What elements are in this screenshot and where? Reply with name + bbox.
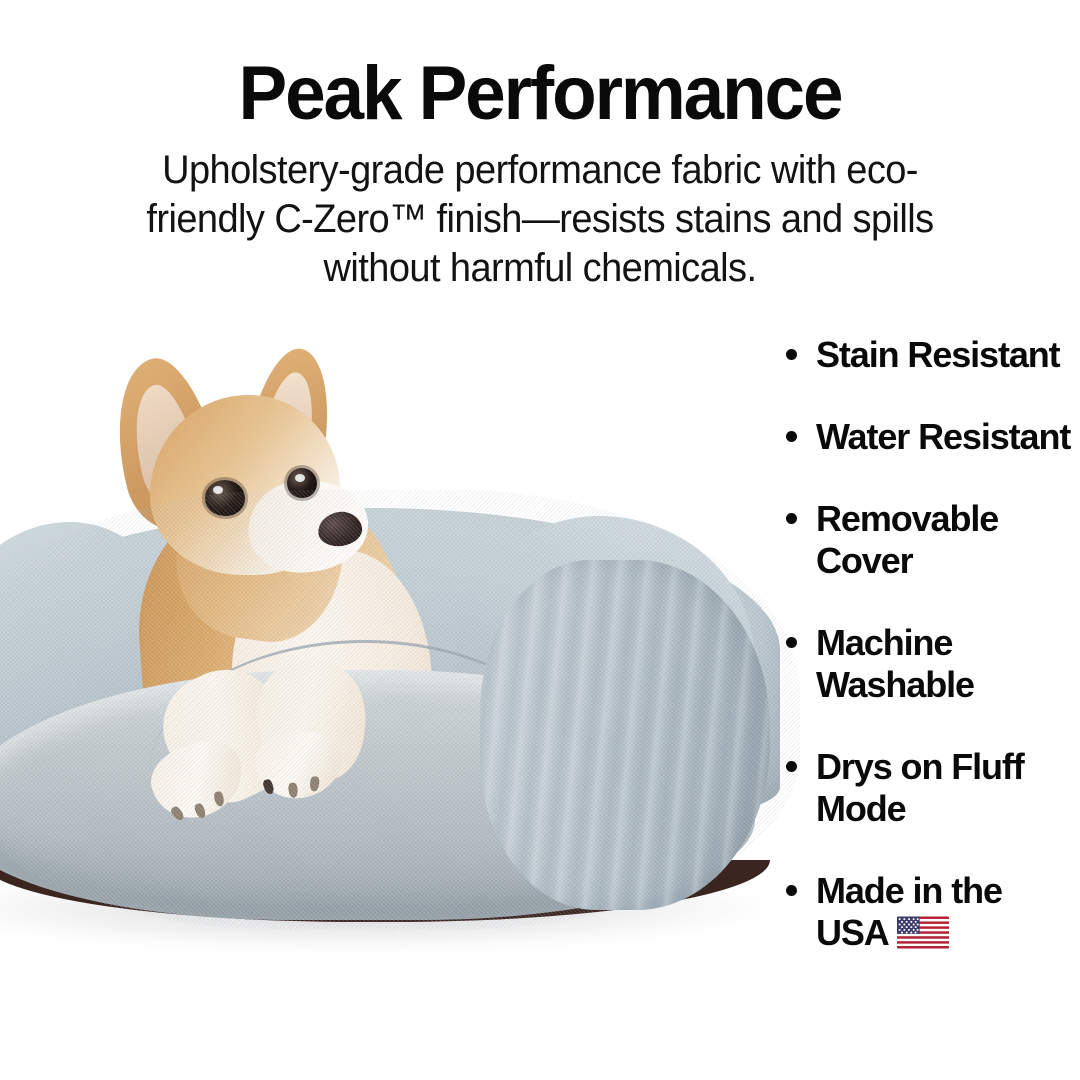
dog-claw <box>213 791 225 808</box>
bullet-dot-icon <box>786 885 797 896</box>
bullet-dot-icon <box>786 349 797 360</box>
feature-label: Removable Cover <box>816 498 998 581</box>
feature-item-water-resistant: Water Resistant <box>778 416 1080 458</box>
product-photo <box>0 340 790 960</box>
page-title: Peak Performance <box>22 52 1059 136</box>
dog-eye-left-glint <box>213 486 223 494</box>
feature-label: Water Resistant <box>816 416 1070 457</box>
bullet-dot-icon <box>786 513 797 524</box>
feature-label: Machine Washable <box>816 622 974 705</box>
bullet-dot-icon <box>786 431 797 442</box>
feature-list: Stain Resistant Water Resistant Removabl… <box>778 334 1080 954</box>
dog-claw <box>309 776 320 792</box>
feature-label-line2: USA <box>816 912 889 953</box>
subheadline-text: Upholstery-grade performance fabric with… <box>111 146 970 293</box>
dog-claw <box>288 782 299 798</box>
feature-item-stain-resistant: Stain Resistant <box>778 334 1080 376</box>
marketing-image-canvas: Peak Performance Upholstery-grade perfor… <box>0 0 1080 1080</box>
feature-label: Stain Resistant <box>816 334 1060 375</box>
us-flag-icon <box>897 916 949 949</box>
feature-item-removable-cover: Removable Cover <box>778 498 1080 582</box>
feature-item-drys-on-fluff-mode: Drys on Fluff Mode <box>778 746 1080 830</box>
dog-eye-right <box>287 468 317 498</box>
feature-item-made-in-usa: Made in the USA <box>778 870 1080 954</box>
feature-label: Made in the <box>816 870 1002 911</box>
feature-label: Drys on Fluff Mode <box>816 746 1024 829</box>
feature-item-machine-washable: Machine Washable <box>778 622 1080 706</box>
bed-right-bolster <box>480 560 770 910</box>
bullet-dot-icon <box>786 637 797 648</box>
bullet-dot-icon <box>786 761 797 772</box>
bed-ruching-texture <box>480 560 770 910</box>
dog-eye-left <box>205 480 245 516</box>
dog-eye-right-glint <box>295 474 305 482</box>
